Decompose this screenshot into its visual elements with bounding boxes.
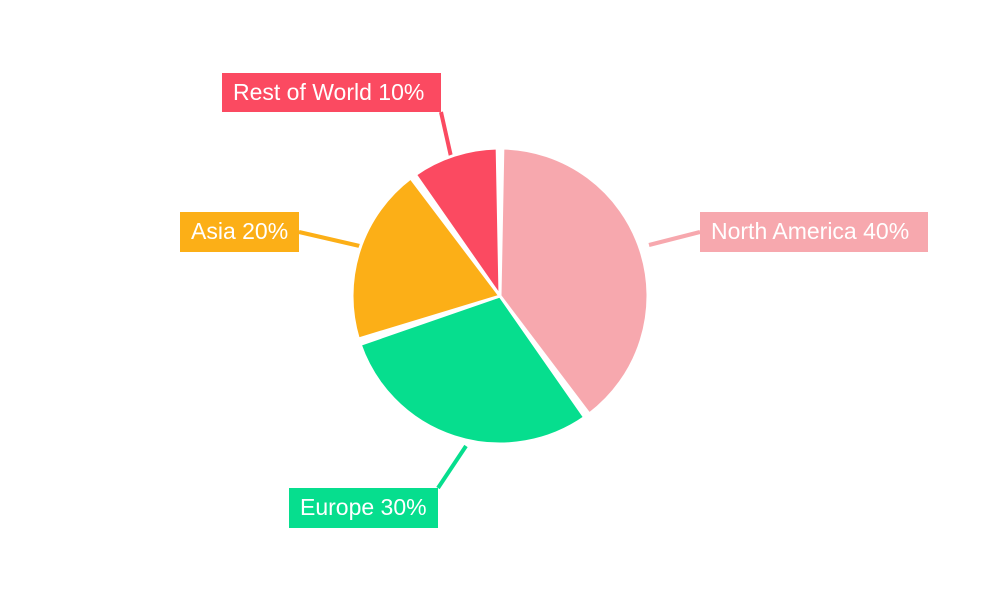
pie-label-asia[interactable]: Asia 20% [180, 212, 299, 252]
pie-label-text: Rest of World 10% [233, 78, 424, 106]
pie-chart-svg [0, 0, 1000, 600]
leader-line-europe [438, 446, 466, 488]
leader-line-north-america [649, 232, 700, 245]
pie-label-europe[interactable]: Europe 30% [289, 488, 438, 528]
pie-chart-figure: North America 40%Europe 30%Asia 20%Rest … [0, 0, 1000, 600]
pie-label-north-america[interactable]: North America 40% [700, 212, 928, 252]
leader-line-asia [299, 232, 364, 247]
pie-slice-group [352, 148, 648, 444]
pie-label-text: North America 40% [711, 217, 909, 245]
pie-label-text: Europe 30% [300, 493, 427, 521]
pie-label-rest-of-world[interactable]: Rest of World 10% [222, 73, 441, 112]
leader-line-rest-of-world [441, 112, 452, 161]
pie-label-text: Asia 20% [191, 217, 288, 245]
